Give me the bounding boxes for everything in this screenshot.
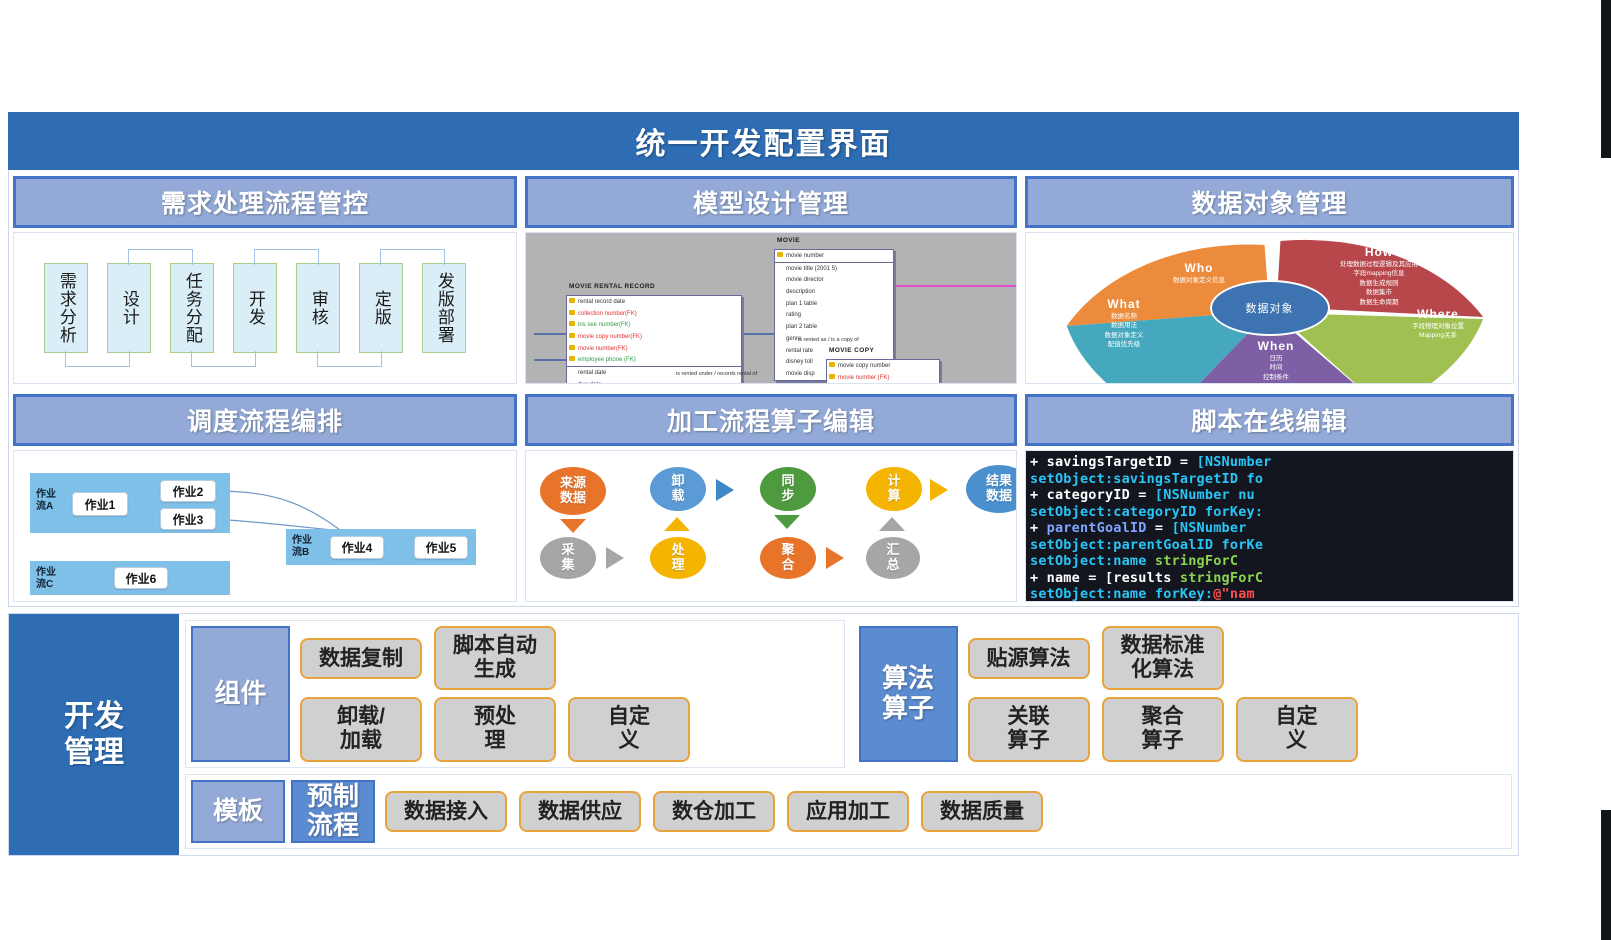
code-line: setObject:name stringForC — [1030, 553, 1513, 570]
flow-step-6[interactable]: 定版 — [359, 263, 403, 353]
chip-join-operator[interactable]: 关联算子 — [968, 697, 1090, 761]
flow-connector-bottom-3 — [317, 351, 382, 367]
panel-data-object[interactable]: 数据对象管理 — [1021, 170, 1518, 388]
er-relation-label-1: is rented as / is a copy of — [798, 337, 859, 344]
panels-row-top: 需求处理流程管控 需求分析 设计 任务分配 开发 审核 定版 发版部署 — [9, 170, 1518, 388]
template-chip-row: 数据接入 数据供应 数仓加工 应用加工 数据质量 — [385, 791, 1506, 832]
algorithm-chips: 贴源算法 数据标准化算法 关联算子 聚合算子 自定义 — [958, 626, 1507, 762]
group-tag-template[interactable]: 模板 — [191, 780, 285, 844]
er-relation-line-left-2 — [534, 359, 568, 361]
flow-step-5[interactable]: 审核 — [296, 263, 340, 353]
er-field: plan 1 table — [775, 298, 893, 310]
chip-aggregate-operator[interactable]: 聚合算子 — [1102, 697, 1224, 761]
panel-body-req-process[interactable]: 需求分析 设计 任务分配 开发 审核 定版 发版部署 — [13, 232, 517, 384]
component-chips: 数据复制 脚本自动生成 卸载/加载 预处理 自定义 — [290, 626, 839, 762]
unified-dev-config-screen: 统一开发配置界面 需求处理流程管控 需求分析 设计 任务分配 开发 审核 定版 … — [8, 112, 1519, 856]
er-table-title: MOVIE COPY — [829, 347, 874, 354]
chip-custom-operator[interactable]: 自定义 — [1236, 697, 1358, 761]
arrow-right-aggregate — [826, 547, 844, 569]
flow-step-4[interactable]: 开发 — [233, 263, 277, 353]
er-field: movie title (2001 5) — [775, 263, 893, 275]
arrow-up-summary — [879, 517, 905, 531]
right-edge-letterbox — [1601, 0, 1611, 940]
pie-center-label: 数据对象 — [1210, 280, 1330, 336]
flow-step-1[interactable]: 需求分析 — [44, 263, 88, 353]
code-line: + name = [results stringForC — [1030, 570, 1513, 587]
job-node-5[interactable]: 作业5 — [414, 536, 468, 559]
er-relation-label-2: is rented under / records rental of — [676, 371, 757, 378]
operator-node-source[interactable]: 来源数据 — [540, 467, 606, 515]
requirement-flow-diagram: 需求分析 设计 任务分配 开发 审核 定版 发版部署 — [14, 233, 516, 383]
chip-preprocess[interactable]: 预处理 — [434, 697, 556, 761]
dev-row-components-algorithms: 组件 数据复制 脚本自动生成 卸载/加载 预处理 自定义 — [185, 620, 1512, 768]
arrow-down-source — [560, 519, 586, 533]
code-line: + savingsTargetID = [NSNumber — [1030, 454, 1513, 471]
panel-req-process[interactable]: 需求处理流程管控 需求分析 设计 任务分配 开发 审核 定版 发版部署 — [9, 170, 521, 388]
chip-warehouse-processing[interactable]: 数仓加工 — [653, 791, 775, 832]
job-node-4[interactable]: 作业4 — [330, 536, 384, 559]
panel-body-operator-edit[interactable]: 来源数据 采集 处理 卸载 同步 聚合 汇总 — [525, 450, 1017, 602]
er-key-field: rental record date — [567, 296, 741, 308]
chip-data-ingest[interactable]: 数据接入 — [385, 791, 507, 832]
er-relation-line-pink — [881, 285, 1017, 287]
er-key-field: collection number(FK) — [567, 308, 741, 320]
data-object-pie-chart: 数据对象 Who 数据对象定义信息 How 处理数据过程逻辑及其应用 字段map… — [1026, 233, 1513, 383]
er-table-title: MOVIE RENTAL RECORD — [569, 283, 655, 290]
chip-source-algorithm[interactable]: 贴源算法 — [968, 638, 1090, 679]
operator-node-unload[interactable]: 卸载 — [650, 467, 706, 511]
job-node-6[interactable]: 作业6 — [114, 567, 168, 589]
er-key-field: movie number(FK) — [567, 343, 741, 355]
er-relation-line-left-1 — [534, 333, 568, 335]
er-diagram: MOVIE RENTAL RECORD rental record date c… — [526, 233, 1016, 383]
job-group-c-label: 作业流C — [36, 567, 56, 591]
flow-connector-bottom-1 — [65, 351, 130, 367]
chip-data-standardization-algorithm[interactable]: 数据标准化算法 — [1102, 626, 1224, 690]
operator-node-process[interactable]: 处理 — [650, 537, 706, 579]
operator-node-aggregate[interactable]: 聚合 — [760, 537, 816, 579]
chip-data-replication[interactable]: 数据复制 — [300, 638, 422, 679]
panel-body-data-object[interactable]: 数据对象 Who 数据对象定义信息 How 处理数据过程逻辑及其应用 字段map… — [1025, 232, 1514, 384]
operator-flow-diagram: 来源数据 采集 处理 卸载 同步 聚合 汇总 — [526, 451, 1016, 601]
preset-flow-wrap: 预制流程 — [291, 780, 375, 844]
panel-model-design[interactable]: 模型设计管理 MOVIE RENTAL RECORD rental — [521, 170, 1021, 388]
panel-title-data-object: 数据对象管理 — [1025, 176, 1514, 228]
er-key-field: ins see number(FK) — [567, 319, 741, 331]
dev-group-components: 组件 数据复制 脚本自动生成 卸载/加载 预处理 自定义 — [185, 620, 845, 768]
er-field: due date — [567, 379, 741, 384]
operator-node-result[interactable]: 结果数据 — [966, 465, 1017, 513]
arrow-right-unload — [716, 479, 734, 501]
arrow-right-collect — [606, 547, 624, 569]
er-key-field: movie copy number — [827, 360, 939, 372]
er-field: rating — [775, 309, 893, 321]
arrow-up-process — [664, 517, 690, 531]
panels-row-bottom: 调度流程编排 作业流A 作业1 作业2 — [9, 388, 1518, 606]
page-title: 统一开发配置界面 — [8, 112, 1519, 170]
dev-row-templates: 模板 预制流程 数据接入 数据供应 数仓加工 应用加工 数据质量 — [185, 774, 1512, 850]
code-line: + categoryID = [NSNumber nu — [1030, 487, 1513, 504]
panel-operator-edit[interactable]: 加工流程算子编辑 来源数据 采集 处理 卸载 同步 聚合 — [521, 388, 1021, 606]
panel-body-model-design[interactable]: MOVIE RENTAL RECORD rental record date c… — [525, 232, 1017, 384]
chip-script-auto-generate[interactable]: 脚本自动生成 — [434, 626, 556, 690]
flow-connector-top-2 — [254, 249, 319, 265]
group-tag-components[interactable]: 组件 — [191, 626, 290, 762]
er-table-movie-copy[interactable]: MOVIE COPY movie copy number movie numbe… — [826, 359, 940, 384]
template-chips: 数据接入 数据供应 数仓加工 应用加工 数据质量 — [375, 780, 1506, 844]
er-field: movie director — [775, 274, 893, 286]
job-node-3[interactable]: 作业3 — [160, 508, 216, 530]
arrow-down-sync — [774, 515, 800, 529]
code-line: setObject:categoryID forKey: — [1030, 504, 1513, 521]
chip-custom-component[interactable]: 自定义 — [568, 697, 690, 761]
panel-title-operator-edit: 加工流程算子编辑 — [525, 394, 1017, 446]
panel-title-script-edit: 脚本在线编辑 — [1025, 394, 1514, 446]
code-editor[interactable]: + savingsTargetID = [NSNumbersetObject:s… — [1026, 451, 1513, 601]
flow-connector-bottom-2 — [191, 351, 256, 367]
job-group-a-label: 作业流A — [36, 489, 56, 513]
operator-node-compute[interactable]: 计算 — [866, 467, 922, 511]
flow-connector-top-3 — [380, 249, 445, 265]
code-line: setObject:savingsTargetID fo — [1030, 471, 1513, 488]
job-node-2[interactable]: 作业2 — [160, 480, 216, 502]
job-flow-diagram: 作业流A 作业1 作业2 作业3 作业流B 作业4 作业5 作业流C 作业6 — [14, 451, 516, 601]
component-chip-row-1: 数据复制 脚本自动生成 — [300, 626, 839, 690]
panel-schedule-flow[interactable]: 调度流程编排 作业流A 作业1 作业2 — [9, 388, 521, 606]
job-node-1[interactable]: 作业1 — [72, 492, 128, 516]
panel-title-req-process: 需求处理流程管控 — [13, 176, 517, 228]
panel-body-schedule-flow[interactable]: 作业流A 作业1 作业2 作业3 作业流B 作业4 作业5 作业流C 作业6 — [13, 450, 517, 602]
flow-step-7[interactable]: 发版部署 — [422, 263, 466, 353]
chip-data-quality[interactable]: 数据质量 — [921, 791, 1043, 832]
dev-management-section: 开发管理 组件 数据复制 脚本自动生成 卸载/加载 — [8, 613, 1519, 856]
group-tag-algorithm-operators[interactable]: 算法算子 — [859, 626, 958, 762]
er-key-field: movie copy number(FK) — [567, 331, 741, 343]
dev-management-title: 开发管理 — [9, 614, 179, 855]
operator-node-summary[interactable]: 汇总 — [866, 537, 920, 579]
operator-node-sync[interactable]: 同步 — [760, 467, 816, 511]
panel-title-schedule-flow: 调度流程编排 — [13, 394, 517, 446]
flow-connector-top-1 — [128, 249, 193, 265]
er-field: plan 2 table — [775, 321, 893, 333]
operator-node-collect[interactable]: 采集 — [540, 537, 596, 579]
flow-step-3[interactable]: 任务分配 — [170, 263, 214, 353]
er-key-field: movie number — [775, 250, 893, 262]
chip-application-processing[interactable]: 应用加工 — [787, 791, 909, 832]
code-line: setObject:parentGoalID forKe — [1030, 537, 1513, 554]
panel-title-model-design: 模型设计管理 — [525, 176, 1017, 228]
panel-script-edit[interactable]: 脚本在线编辑 + savingsTargetID = [NSNumbersetO… — [1021, 388, 1518, 606]
job-group-b-label: 作业流B — [292, 535, 312, 559]
er-key-field: movie number (FK) — [827, 372, 939, 384]
group-tag-preset-flow[interactable]: 预制流程 — [291, 780, 375, 844]
panels-grid: 需求处理流程管控 需求分析 设计 任务分配 开发 审核 定版 发版部署 — [8, 170, 1519, 607]
er-table-title: MOVIE — [777, 237, 800, 244]
component-chip-row-2: 卸载/加载 预处理 自定义 — [300, 697, 839, 761]
er-field: description — [775, 286, 893, 298]
algorithm-chip-row-2: 关联算子 聚合算子 自定义 — [968, 697, 1507, 761]
flow-step-2[interactable]: 设计 — [107, 263, 151, 353]
er-key-field: employee phone (FK) — [567, 354, 741, 366]
arrow-right-compute — [930, 479, 948, 501]
algorithm-chip-row-1: 贴源算法 数据标准化算法 — [968, 626, 1507, 690]
dev-management-body: 组件 数据复制 脚本自动生成 卸载/加载 预处理 自定义 — [179, 614, 1518, 855]
panel-body-script-edit[interactable]: + savingsTargetID = [NSNumbersetObject:s… — [1025, 450, 1514, 602]
code-line: + parentGoalID = [NSNumber — [1030, 520, 1513, 537]
chip-data-supply[interactable]: 数据供应 — [519, 791, 641, 832]
code-line: setObject:name forKey:@"nam — [1030, 586, 1513, 601]
dev-group-algorithms: 算法算子 贴源算法 数据标准化算法 关联算子 聚合算子 自定义 — [853, 620, 1513, 768]
chip-unload-load[interactable]: 卸载/加载 — [300, 697, 422, 761]
